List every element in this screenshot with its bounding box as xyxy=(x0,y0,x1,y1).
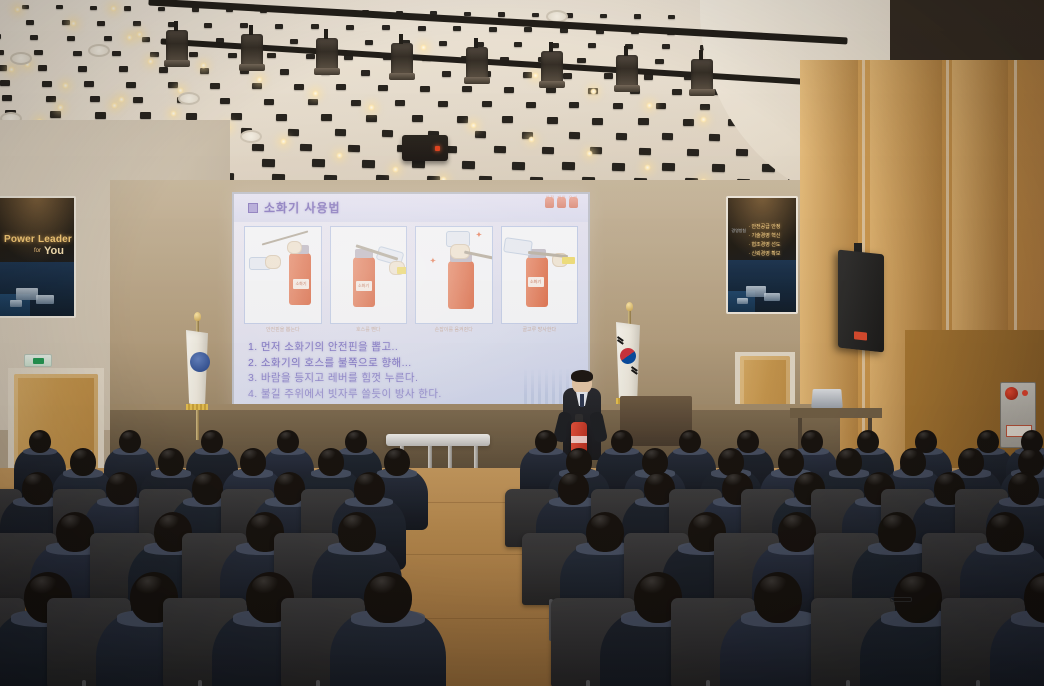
slide-illustration-panel: 소화기 xyxy=(501,226,579,324)
stage-spotlight xyxy=(316,38,338,72)
mascot-figure-icon xyxy=(545,197,554,208)
presenter-tie xyxy=(580,394,584,407)
projection-screen: 소화기 사용법 안전 제일 우리 소화기 소화기 ✦ ✦ 소화기 xyxy=(232,192,590,420)
audience-member xyxy=(330,572,446,686)
lectern-top xyxy=(386,434,490,446)
slide-panel-captions: 안전핀을 뽑는다호스를 뺀다손잡이를 움켜쥔다골고루 방사한다 xyxy=(244,326,578,338)
exit-running-man-icon xyxy=(33,358,44,364)
right-wall-banner: 경영방침 · 안전공급 안정· 기술경영 혁신· 협조경영 선도· 신뢰경영 확… xyxy=(726,196,798,314)
banner-glow xyxy=(0,196,76,269)
right-banner-item: · 기술경영 혁신 xyxy=(748,232,780,241)
left-banner-photo xyxy=(0,262,74,316)
left-wall-banner: Power Leader for You xyxy=(0,196,76,318)
jbl-wall-speaker xyxy=(838,250,884,353)
left-banner-for: for xyxy=(34,248,41,254)
right-banner-tag: 경영방침 xyxy=(731,228,746,234)
slide-illustration-panel: 소화기 xyxy=(330,226,408,324)
stage-spotlight xyxy=(466,47,488,81)
left-banner-line1: Power Leader xyxy=(4,234,72,245)
slide-title: 소화기 사용법 xyxy=(264,199,341,216)
ceiling-projector xyxy=(402,135,448,161)
right-banner-item: · 안전공급 안정 xyxy=(748,223,780,232)
stage-spotlight xyxy=(616,55,638,89)
right-banner-photo xyxy=(728,260,796,312)
slide-step: 1. 먼저 소화기의 안전핀을 뽑고.. xyxy=(248,340,578,356)
mascot-figure-icon xyxy=(557,197,566,208)
right-banner-item: · 신뢰경영 확보 xyxy=(748,250,780,259)
av-laptop[interactable] xyxy=(811,389,843,408)
slide-panel-caption: 호스를 뺀다 xyxy=(330,326,408,338)
slide-title-group: 소화기 사용법 xyxy=(248,199,341,216)
audience-member xyxy=(990,572,1044,686)
slide-panel-caption: 안전핀을 뽑는다 xyxy=(244,326,322,338)
slide-illustration-panel: 소화기 xyxy=(244,226,322,324)
stage-spotlight xyxy=(241,34,263,68)
presenter-hair xyxy=(571,370,593,382)
alarm-indicator-led xyxy=(1022,390,1028,396)
slide-panel-caption: 골고루 방사한다 xyxy=(501,326,579,338)
projector-power-led xyxy=(435,146,440,151)
stage-spotlight xyxy=(691,59,713,93)
bullet-square-icon xyxy=(248,203,258,213)
presentation-slide: 소화기 사용법 안전 제일 우리 소화기 소화기 ✦ ✦ 소화기 xyxy=(234,194,588,418)
jbl-logo-icon xyxy=(854,331,867,340)
exit-sign xyxy=(24,354,52,367)
stage-spotlight xyxy=(166,30,188,64)
auditorium-photo: Power Leader for You 경영방침 · 안전공급 안정· 기술경… xyxy=(0,0,1044,686)
stage-spotlight xyxy=(541,51,563,85)
stage-spotlight xyxy=(391,43,413,77)
slide-illustration-panels: 소화기 소화기 ✦ ✦ 소화기 xyxy=(244,226,578,324)
eyeglasses-icon xyxy=(890,597,912,602)
slide-illustration-panel: ✦ ✦ xyxy=(415,226,493,324)
right-banner-items: · 안전공급 안정· 기술경영 혁신· 협조경영 선도· 신뢰경영 확보 xyxy=(748,223,780,259)
left-banner-line2: You xyxy=(44,245,64,257)
av-control-table xyxy=(790,408,882,418)
mascot-figure-icon xyxy=(569,197,578,208)
alarm-bell-icon xyxy=(1005,387,1018,400)
right-banner-item: · 협조경영 선도 xyxy=(748,241,780,250)
slide-panel-caption: 손잡이를 움켜쥔다 xyxy=(415,326,493,338)
slide-mascot-logo xyxy=(545,197,578,208)
